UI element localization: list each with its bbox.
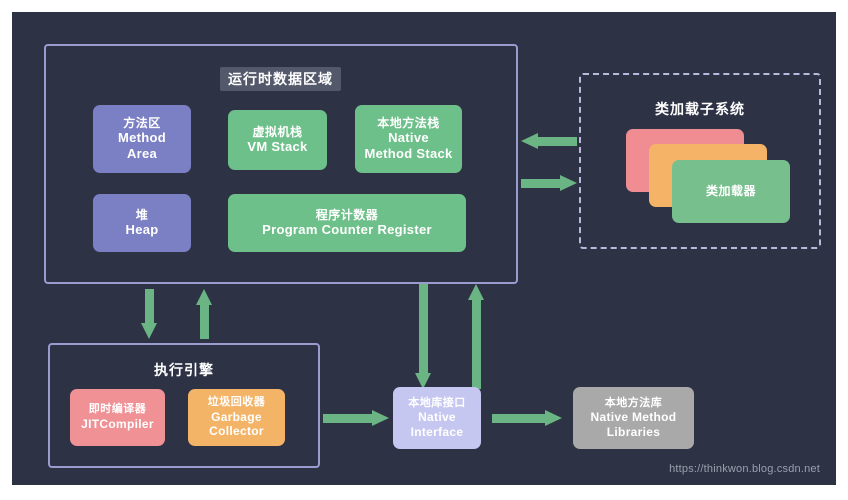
arrow-head-right-icon xyxy=(545,410,562,426)
arrow-head-left-icon xyxy=(521,133,538,149)
arrow-execution-engine-to-runtime xyxy=(196,289,212,339)
runtime-data-area-title: 运行时数据区域 xyxy=(220,67,341,91)
node-garbage-collector-cn: 垃圾回收器 xyxy=(208,396,266,409)
node-heap-cn: 堆 xyxy=(136,208,149,223)
arrow-shaft xyxy=(521,179,561,188)
node-garbage-collector[interactable]: 垃圾回收器 Garbage Collector xyxy=(188,389,285,446)
node-native-interface[interactable]: 本地库接口 Native Interface xyxy=(393,387,481,449)
node-garbage-collector-en1: Garbage xyxy=(211,410,262,425)
node-vm-stack[interactable]: 虚拟机栈 VM Stack xyxy=(228,110,327,170)
node-heap[interactable]: 堆 Heap xyxy=(93,194,191,252)
class-loader-subsystem-title: 类加载子系统 xyxy=(579,99,821,119)
node-program-counter-register[interactable]: 程序计数器 Program Counter Register xyxy=(228,194,466,252)
node-method-area[interactable]: 方法区 Method Area xyxy=(93,105,191,173)
arrow-runtime-to-classloader xyxy=(521,175,577,191)
class-loader-card-3-label: 类加载器 xyxy=(706,184,756,199)
node-jit-compiler-en1: JITCompiler xyxy=(81,417,154,432)
arrow-shaft xyxy=(537,137,577,146)
arrow-runtime-to-execution-engine xyxy=(141,289,157,339)
arrow-shaft xyxy=(419,284,428,373)
node-native-interface-cn: 本地库接口 xyxy=(408,397,466,410)
node-native-method-stack[interactable]: 本地方法栈 Native Method Stack xyxy=(355,105,462,173)
node-program-counter-register-cn: 程序计数器 xyxy=(316,208,379,223)
watermark-text: https://thinkwon.blog.csdn.net xyxy=(669,463,820,475)
arrow-execution-engine-to-native-interface xyxy=(323,410,389,426)
diagram-canvas: 运行时数据区域 方法区 Method Area 虚拟机栈 VM Stack 本地… xyxy=(12,12,836,485)
node-native-method-libraries-cn: 本地方法库 xyxy=(605,397,663,410)
arrow-native-interface-to-native-libraries xyxy=(492,410,562,426)
arrow-shaft xyxy=(145,289,154,324)
arrow-head-down-icon xyxy=(141,323,157,339)
node-garbage-collector-en2: Collector xyxy=(209,424,264,439)
class-loader-card-3[interactable]: 类加载器 xyxy=(672,160,790,223)
node-vm-stack-cn: 虚拟机栈 xyxy=(252,125,302,140)
node-native-method-stack-cn: 本地方法栈 xyxy=(377,116,440,131)
node-jit-compiler-cn: 即时编译器 xyxy=(89,403,147,416)
node-native-method-libraries-en1: Native Method xyxy=(591,410,677,425)
node-native-interface-en2: Interface xyxy=(411,425,464,440)
node-native-method-stack-en2: Method Stack xyxy=(364,146,452,162)
arrow-head-right-icon xyxy=(372,410,389,426)
node-native-interface-en1: Native xyxy=(418,410,456,425)
execution-engine-title: 执行引擎 xyxy=(48,360,320,380)
arrow-runtime-to-native-interface xyxy=(415,284,431,389)
node-method-area-en2: Area xyxy=(127,146,157,162)
node-method-area-en1: Method xyxy=(118,130,166,146)
arrow-classloader-to-runtime xyxy=(521,133,577,149)
arrow-shaft xyxy=(200,304,209,339)
arrow-native-interface-to-runtime xyxy=(468,284,484,389)
arrow-shaft xyxy=(472,300,481,389)
node-native-method-stack-en1: Native xyxy=(388,130,429,146)
node-method-area-cn: 方法区 xyxy=(123,116,161,131)
node-program-counter-register-en1: Program Counter Register xyxy=(262,222,432,238)
node-jit-compiler[interactable]: 即时编译器 JITCompiler xyxy=(70,389,165,446)
arrow-shaft xyxy=(323,414,373,423)
node-native-method-libraries[interactable]: 本地方法库 Native Method Libraries xyxy=(573,387,694,449)
arrow-shaft xyxy=(492,414,546,423)
node-native-method-libraries-en2: Libraries xyxy=(607,425,660,440)
diagram-stage: 运行时数据区域 方法区 Method Area 虚拟机栈 VM Stack 本地… xyxy=(0,0,848,500)
arrow-head-up-icon xyxy=(196,289,212,305)
arrow-head-right-icon xyxy=(560,175,577,191)
node-vm-stack-en1: VM Stack xyxy=(247,139,307,155)
node-heap-en1: Heap xyxy=(126,222,159,238)
arrow-head-up-icon xyxy=(468,284,484,300)
